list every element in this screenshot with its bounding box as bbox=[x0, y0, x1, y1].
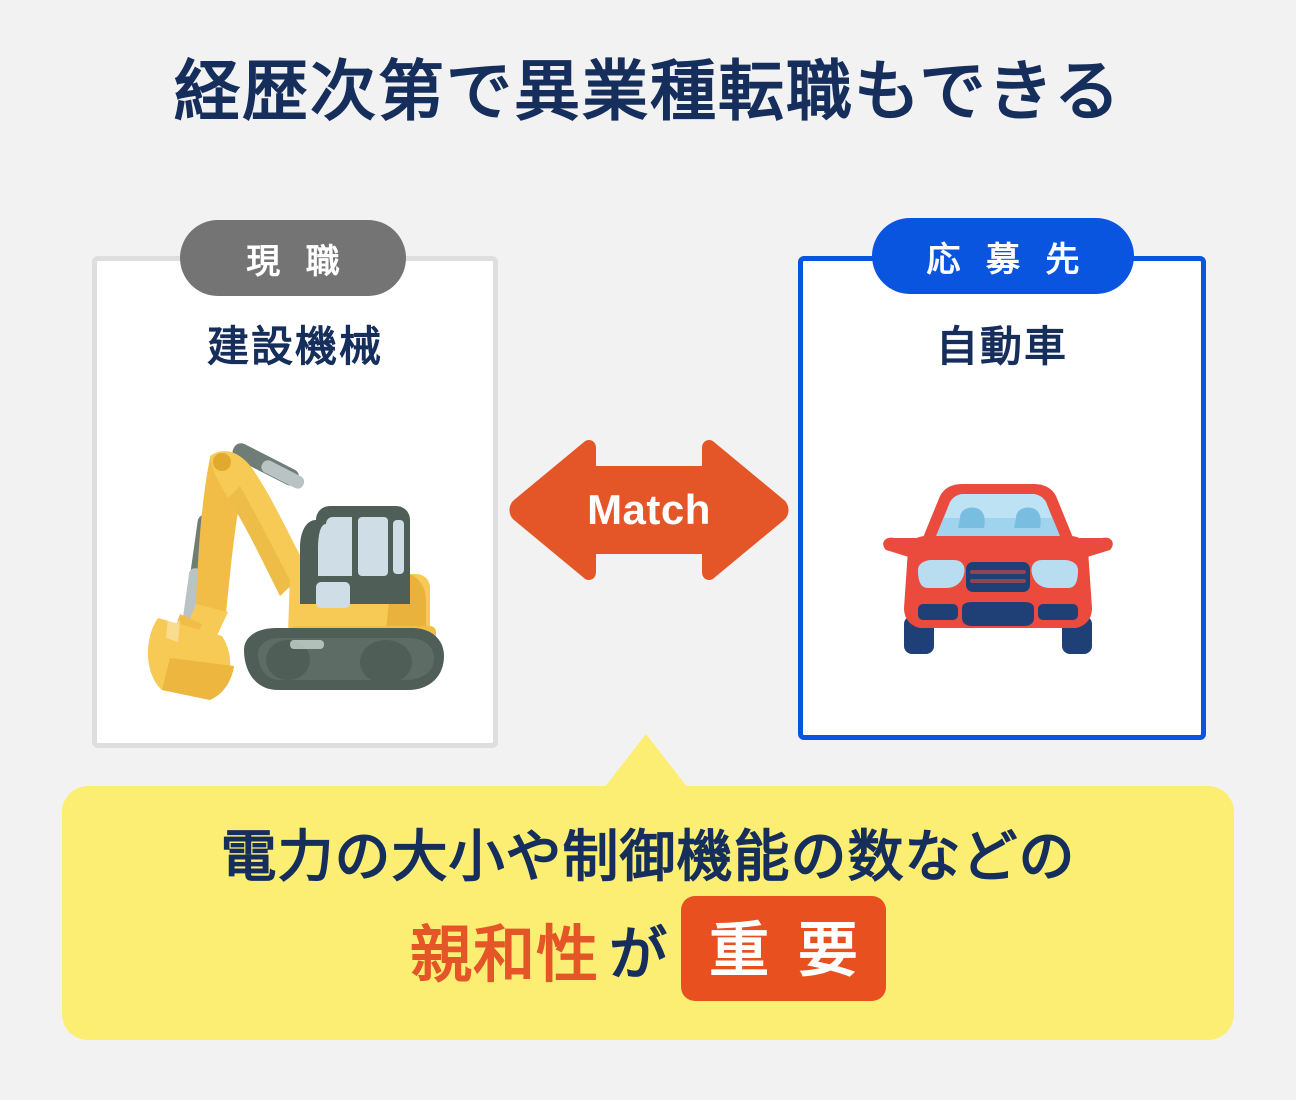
excavator-illustration bbox=[140, 428, 452, 716]
match-arrow-icon bbox=[506, 436, 792, 584]
badge-target-job: 応 募 先 bbox=[872, 218, 1134, 294]
badge-current-job: 現 職 bbox=[180, 220, 406, 296]
page-title: 経歴次第で異業種転職もできる bbox=[0, 54, 1296, 130]
callout-highlight-badge: 重 要 bbox=[681, 896, 886, 1001]
callout-emphasis: 親和性 bbox=[410, 904, 599, 994]
callout-line-2: 親和性 が 重 要 bbox=[62, 896, 1234, 1001]
infographic-canvas: 経歴次第で異業種転職もできる 建設機械 現 職 bbox=[0, 0, 1296, 1100]
callout-line-1: 電力の大小や制御機能の数などの bbox=[62, 812, 1234, 893]
car-illustration bbox=[878, 478, 1118, 668]
callout-tail bbox=[596, 734, 696, 788]
callout-conjunction: が bbox=[609, 907, 667, 991]
card-current-job-label: 建設機械 bbox=[97, 313, 493, 374]
card-target-job-label: 自動車 bbox=[803, 313, 1201, 374]
